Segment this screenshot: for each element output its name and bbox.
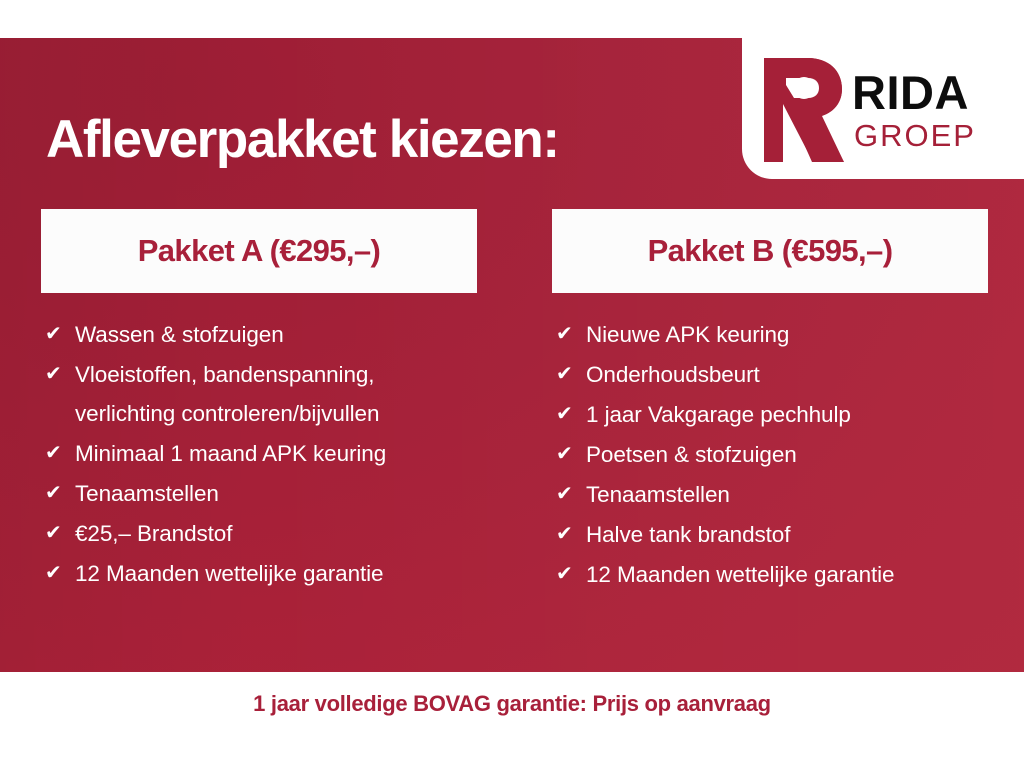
check-icon: ✔ [45, 474, 75, 513]
list-item-label: Tenaamstellen [586, 475, 988, 514]
list-item-label: Vloeistoffen, bandenspanning, verlichtin… [75, 355, 477, 433]
list-item-label: Nieuwe APK keuring [586, 315, 988, 354]
package-b-feature-list: ✔ Nieuwe APK keuring ✔ Onderhoudsbeurt ✔… [552, 293, 988, 594]
list-item-label: Wassen & stofzuigen [75, 315, 477, 354]
logo-wordmark: RIDA GROEP [852, 69, 976, 151]
package-a-header: Pakket A (€295,–) [41, 209, 477, 293]
list-item: ✔ Poetsen & stofzuigen [556, 435, 988, 474]
package-card-b: Pakket B (€595,–) ✔ Nieuwe APK keuring ✔… [552, 209, 988, 595]
package-card-a: Pakket A (€295,–) ✔ Wassen & stofzuigen … [41, 209, 477, 594]
check-icon: ✔ [45, 355, 75, 394]
package-a-feature-list: ✔ Wassen & stofzuigen ✔ Vloeistoffen, ba… [41, 293, 477, 593]
check-icon: ✔ [556, 355, 586, 394]
check-icon: ✔ [556, 515, 586, 554]
list-item: ✔ Onderhoudsbeurt [556, 355, 988, 394]
list-item: ✔ 12 Maanden wettelijke garantie [45, 554, 477, 593]
list-item-line: Vloeistoffen, bandenspanning, [75, 355, 477, 394]
check-icon: ✔ [556, 395, 586, 434]
list-item-label: 12 Maanden wettelijke garantie [75, 554, 477, 593]
list-item: ✔ €25,– Brandstof [45, 514, 477, 553]
check-icon: ✔ [556, 475, 586, 514]
list-item-label: Onderhoudsbeurt [586, 355, 988, 394]
package-b-header: Pakket B (€595,–) [552, 209, 988, 293]
footer-note: 1 jaar volledige BOVAG garantie: Prijs o… [253, 691, 771, 717]
check-icon: ✔ [556, 435, 586, 474]
list-item: ✔ Nieuwe APK keuring [556, 315, 988, 354]
list-item: ✔ Tenaamstellen [556, 475, 988, 514]
list-item: ✔ Minimaal 1 maand APK keuring [45, 434, 477, 473]
list-item: ✔ Halve tank brandstof [556, 515, 988, 554]
list-item: ✔ Vloeistoffen, bandenspanning, verlicht… [45, 355, 477, 433]
list-item-label: 12 Maanden wettelijke garantie [586, 555, 988, 594]
list-item-label: €25,– Brandstof [75, 514, 477, 553]
list-item: ✔ 12 Maanden wettelijke garantie [556, 555, 988, 594]
list-item: ✔ Wassen & stofzuigen [45, 315, 477, 354]
list-item-label: 1 jaar Vakgarage pechhulp [586, 395, 988, 434]
brand-logo: RIDA GROEP [742, 38, 1024, 179]
list-item-label: Poetsen & stofzuigen [586, 435, 988, 474]
list-item-label: Tenaamstellen [75, 474, 477, 513]
check-icon: ✔ [45, 315, 75, 354]
list-item-label: Halve tank brandstof [586, 515, 988, 554]
rida-r-monogram-icon [756, 58, 844, 162]
check-icon: ✔ [556, 315, 586, 354]
list-item: ✔ 1 jaar Vakgarage pechhulp [556, 395, 988, 434]
list-item: ✔ Tenaamstellen [45, 474, 477, 513]
logo-secondary-text: GROEP [854, 120, 976, 151]
list-item-line: verlichting controleren/bijvullen [75, 394, 477, 433]
page-title: Afleverpakket kiezen: [46, 112, 559, 168]
package-b-title: Pakket B (€595,–) [648, 233, 893, 269]
list-item-label: Minimaal 1 maand APK keuring [75, 434, 477, 473]
check-icon: ✔ [556, 555, 586, 594]
check-icon: ✔ [45, 514, 75, 553]
poster-canvas: Afleverpakket kiezen: RIDA GROEP Pakket … [0, 0, 1024, 768]
footer-banner: 1 jaar volledige BOVAG garantie: Prijs o… [0, 672, 1024, 768]
check-icon: ✔ [45, 554, 75, 593]
logo-primary-text: RIDA [852, 69, 976, 116]
package-a-title: Pakket A (€295,–) [138, 233, 381, 269]
check-icon: ✔ [45, 434, 75, 473]
